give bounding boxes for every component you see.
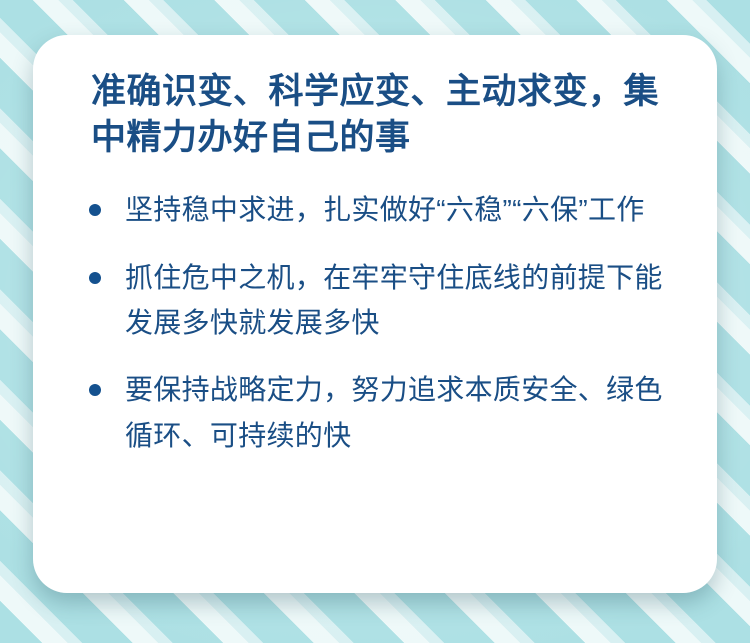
- bullet-dot-icon: [89, 384, 101, 396]
- list-item: 要保持战略定力，努力追求本质安全、绿色循环、可持续的快: [81, 367, 681, 458]
- list-item: 坚持稳中求进，扎实做好“六稳”“六保”工作: [81, 187, 681, 232]
- page-title: 准确识变、科学应变、主动求变，集中精力办好自己的事: [63, 69, 687, 161]
- list-item-label: 坚持稳中求进，扎实做好“六稳”“六保”工作: [125, 194, 645, 225]
- bullet-dot-icon: [89, 204, 101, 216]
- content-card: 准确识变、科学应变、主动求变，集中精力办好自己的事 坚持稳中求进，扎实做好“六稳…: [33, 35, 717, 593]
- list-item-label: 抓住危中之机，在牢牢守住底线的前提下能发展多快就发展多快: [125, 262, 663, 338]
- list-item: 抓住危中之机，在牢牢守住底线的前提下能发展多快就发展多快: [81, 255, 681, 346]
- bullet-dot-icon: [89, 272, 101, 284]
- key-points-list: 坚持稳中求进，扎实做好“六稳”“六保”工作 抓住危中之机，在牢牢守住底线的前提下…: [63, 187, 687, 458]
- list-item-label: 要保持战略定力，努力追求本质安全、绿色循环、可持续的快: [125, 374, 663, 450]
- poster-root: 准确识变、科学应变、主动求变，集中精力办好自己的事 坚持稳中求进，扎实做好“六稳…: [0, 0, 750, 643]
